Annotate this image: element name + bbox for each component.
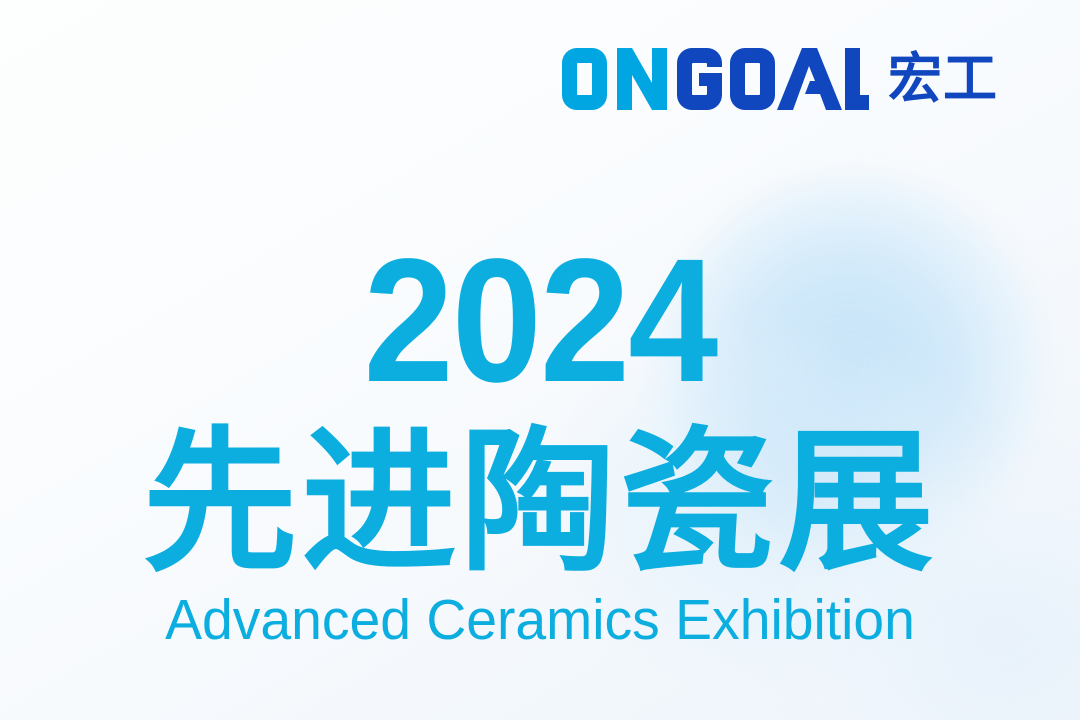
exhibition-title-english: Advanced Ceramics Exhibition [16, 592, 1064, 649]
exhibition-title-chinese: 先进陶瓷展 [0, 425, 1080, 580]
ongoal-wordmark-icon [559, 48, 869, 110]
brand-logo[interactable]: 宏工 [559, 48, 998, 110]
poster-canvas: 宏工 2024 先进陶瓷展 Advanced Ceramics Exhibiti… [0, 0, 1080, 720]
year-heading: 2024 [43, 233, 1037, 409]
brand-chinese-name: 宏工 [888, 52, 998, 106]
